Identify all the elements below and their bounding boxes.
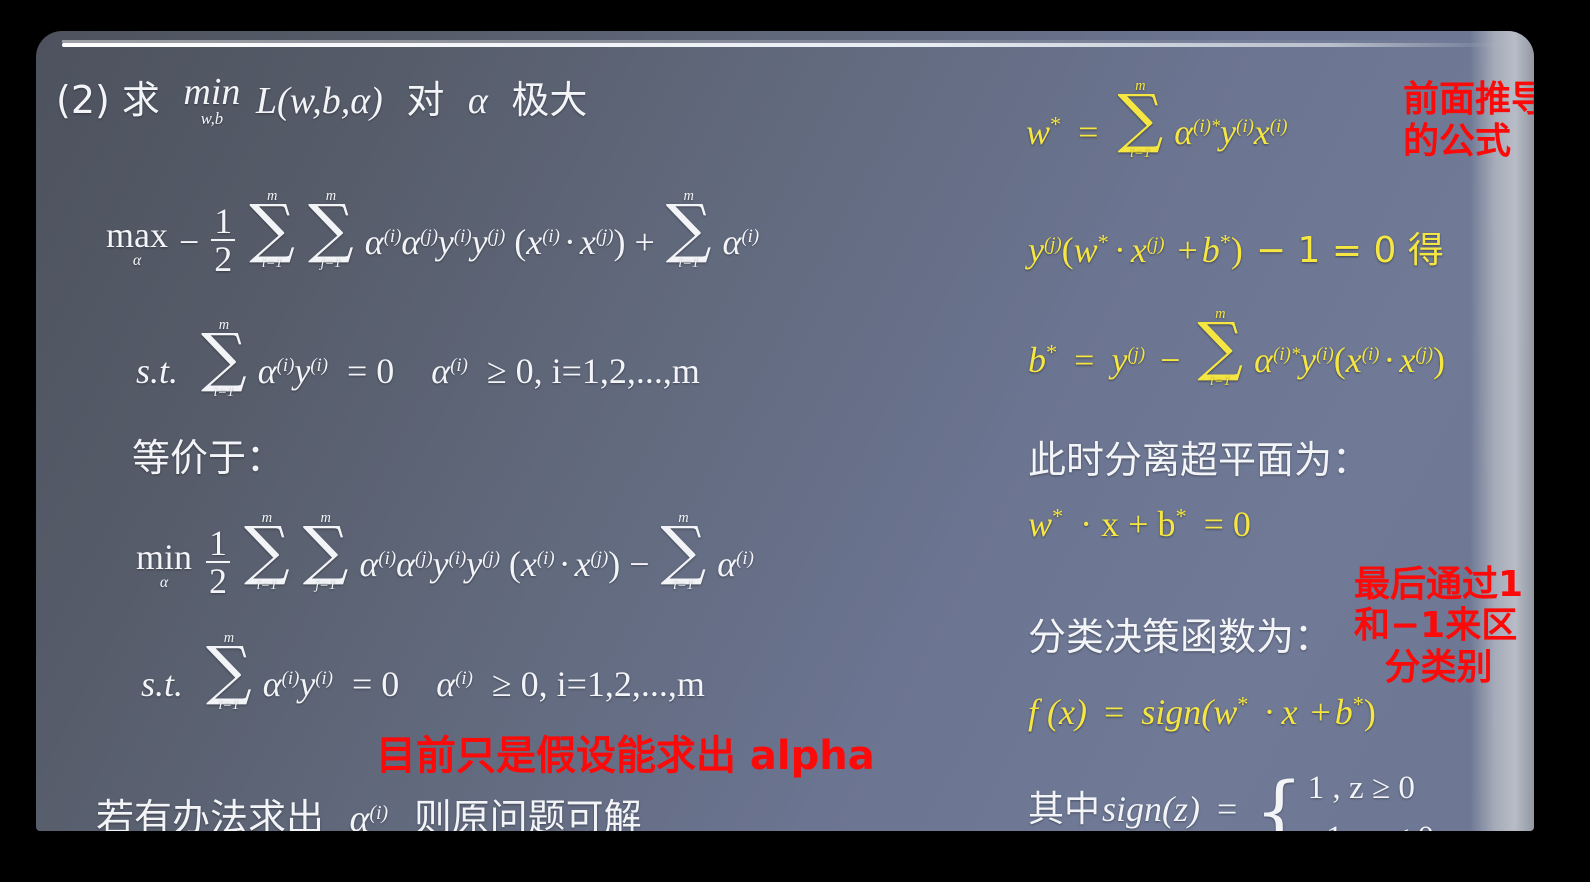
min-operator: min α	[136, 539, 192, 591]
summation-j: m ∑ j=1	[303, 511, 349, 592]
max-operator: max α	[106, 217, 168, 269]
superscript-i: (i)	[455, 668, 473, 690]
y-symbol: y	[1111, 340, 1127, 380]
close-paren: )	[1231, 230, 1243, 270]
step-dui-label: 对	[406, 78, 444, 122]
equals-zero: = 0	[347, 351, 394, 391]
dual-objective-max: max α − 1 2 m ∑ i=1 m ∑ j=1 α(i)α(j)y(i)…	[106, 189, 759, 277]
x-j-term: x	[580, 222, 596, 262]
y-term: y	[294, 351, 310, 391]
superscript-i: (i)	[449, 548, 467, 570]
step-alpha-symbol: α	[468, 80, 488, 122]
dual-constraint-min: s.t. m ∑ i=1 α(i)y(i) = 0 α(i) ≥ 0, i=1,…	[141, 631, 705, 712]
summation-i: m ∑ i=1	[201, 318, 247, 399]
annotation-sign-classes-line3: 分类别	[1354, 647, 1523, 688]
summation-i: m ∑ i=1	[1117, 79, 1163, 160]
sigma-glyph: ∑	[244, 525, 290, 578]
closing-alpha-symbol: α	[350, 798, 370, 831]
one-half-fraction: 1 2	[206, 525, 230, 599]
alpha-j-term: α	[396, 544, 415, 584]
plus-sign: +	[1310, 692, 1330, 732]
hyperplane-label: 此时分离超平面为：	[1028, 429, 1370, 484]
superscript-j: (j)	[596, 226, 614, 248]
max-operator-name: max	[106, 217, 168, 253]
superscript-i: (i)	[310, 355, 328, 377]
superscript-i: (i)	[384, 226, 402, 248]
superscript-i: (i)	[537, 548, 555, 570]
decision-function-label: 分类决策函数为：	[1028, 606, 1332, 661]
close-paren: )	[613, 222, 625, 262]
alpha-symbol: α	[1174, 112, 1193, 152]
min-operator-subscript: w,b	[183, 111, 240, 128]
dual-objective-min: min α 1 2 m ∑ i=1 m ∑ j=1 α(i)α(j)y(i)y(…	[136, 511, 754, 599]
y-j-term: y	[472, 222, 488, 262]
w-symbol: w	[1074, 230, 1098, 270]
alpha-i-term: α	[360, 544, 379, 584]
equals-sign: =	[1217, 789, 1237, 829]
y-term: y	[299, 664, 315, 704]
star-superscript: *	[1353, 692, 1364, 717]
annotation-sign-classes: 最后通过1 和−1来区 分类别	[1354, 564, 1523, 688]
minus-sign: −	[629, 544, 649, 584]
close-paren: )	[1364, 692, 1376, 732]
x-j-term: x	[575, 544, 591, 584]
sign-function-symbol: sign(z)	[1102, 789, 1200, 829]
f-of-x-label: f (x)	[1028, 692, 1087, 732]
superscript-i: (i)	[542, 226, 560, 248]
y-symbol: y	[1220, 112, 1236, 152]
star-superscript: *	[1052, 504, 1063, 529]
star-superscript: *	[1175, 504, 1186, 529]
fraction-numerator: 1	[211, 203, 235, 239]
sign-cases: { 1 , z ≥ 0 −1 , z < 0	[1254, 763, 1434, 831]
x-symbol: x	[1131, 230, 1147, 270]
summation-j: m ∑ j=1	[308, 189, 354, 270]
open-paren: (	[1062, 230, 1074, 270]
sign-case-rows: 1 , z ≥ 0 −1 , z < 0	[1308, 763, 1435, 831]
step-maximize-label: 极大	[511, 78, 587, 122]
sign-function-name: sign(	[1141, 692, 1213, 732]
annotation-alpha-assumption: 目前只是假设能求出 alpha	[376, 723, 875, 781]
nonnegativity-constraint: ≥ 0, i=1,2,...,m	[492, 664, 705, 704]
x-i-term: x	[521, 544, 537, 584]
superscript-i: (i)	[378, 548, 396, 570]
superscript-j: (j)	[1127, 344, 1145, 366]
close-paren: )	[608, 544, 620, 584]
w-symbol: w	[1028, 504, 1052, 544]
superscript-j: (j)	[1147, 234, 1165, 256]
plus-sign: +	[1177, 230, 1197, 270]
superscript-j: (j)	[488, 226, 506, 248]
superscript-i: (i)	[1362, 344, 1380, 366]
equals-sign: =	[1078, 112, 1098, 152]
sign-definition-prefix: 其中	[1028, 789, 1100, 830]
b-symbol: b	[1335, 692, 1353, 732]
inner-product-dot: ·	[564, 222, 576, 262]
star-superscript: *	[1046, 340, 1057, 365]
subject-to-label: s.t.	[141, 664, 183, 704]
b-symbol: b	[1202, 230, 1220, 270]
x-i-term: x	[526, 222, 542, 262]
annotation-previous-formula: 前面推导 的公式	[1403, 79, 1534, 164]
star-superscript: *	[1237, 692, 1248, 717]
annotation-previous-formula-line1: 前面推导	[1403, 79, 1534, 121]
superscript-j: (j)	[591, 548, 609, 570]
annotation-previous-formula-line2: 的公式	[1403, 121, 1534, 163]
open-paren: (	[509, 544, 521, 584]
hyperplane-equals-zero: = 0	[1204, 504, 1251, 544]
alpha-i-term: α	[365, 222, 384, 262]
y-symbol: y	[1028, 230, 1044, 270]
superscript-i: (i)	[1316, 344, 1334, 366]
sign-case-positive: 1 , z ≥ 0	[1308, 763, 1435, 813]
alpha-nonneg-symbol: α	[436, 664, 455, 704]
summation-i: m ∑ i=1	[206, 631, 252, 712]
w-symbol: w	[1026, 112, 1050, 152]
alpha-term: α	[717, 544, 736, 584]
equals-sign: =	[1104, 692, 1124, 732]
w-symbol: w	[1213, 692, 1237, 732]
sigma-glyph: ∑	[201, 332, 247, 385]
annotation-sign-classes-line1: 最后通过1	[1354, 564, 1523, 605]
alpha-symbol: α	[1254, 340, 1273, 380]
summation-i: m ∑ i=1	[244, 511, 290, 592]
equals-zero: = 0	[352, 664, 399, 704]
max-operator-subscript: α	[106, 253, 168, 269]
closing-statement-suffix: 则原问题可解	[414, 796, 642, 831]
closing-statement: 若有办法求出 α(i) 则原问题可解	[96, 787, 642, 831]
superscript-i: (i)	[315, 668, 333, 690]
superscript-i: (i)	[1236, 116, 1254, 138]
kkt-tail-expression: − 1 = 0 得	[1256, 230, 1444, 271]
x-symbol: x	[1281, 692, 1297, 732]
plus-sign: +	[634, 222, 654, 262]
superscript-j: (j)	[482, 548, 500, 570]
sigma-glyph: ∑	[666, 203, 712, 256]
equivalent-label: 等价于：	[132, 427, 284, 482]
x-symbol: x	[1346, 340, 1362, 380]
sigma-glyph: ∑	[1197, 321, 1243, 374]
presentation-slide: (2) 求 min w,b L(w,b,α) 对 α 极大 max α − 1 …	[36, 31, 1534, 831]
sign-case-negative: −1 , z < 0	[1308, 813, 1435, 831]
y-i-term: y	[433, 544, 449, 584]
y-i-term: y	[438, 222, 454, 262]
inner-product-dot: ·	[1114, 230, 1126, 270]
b-star-formula: b* = y(j) − m ∑ i=1 α(i)*y(i)(x(i)·x(j))	[1028, 307, 1445, 388]
sign-definition: 其中sign(z) = { 1 , z ≥ 0 −1 , z < 0	[1028, 763, 1434, 831]
star-superscript: *	[1098, 230, 1109, 255]
summation-i-2: m ∑ i=1	[661, 511, 707, 592]
superscript-j: (j)	[1415, 344, 1433, 366]
superscript-j: (j)	[1044, 234, 1062, 256]
hyperplane-tail: · x + b	[1080, 504, 1175, 544]
sigma-glyph: ∑	[249, 203, 295, 256]
b-symbol: b	[1028, 340, 1046, 380]
sigma-glyph: ∑	[1117, 93, 1163, 146]
superscript-i-star: (i)*	[1273, 344, 1300, 366]
left-brace-glyph: {	[1254, 782, 1303, 831]
superscript-i: (i)	[450, 355, 468, 377]
sigma-glyph: ∑	[303, 525, 349, 578]
superscript-i: (i)	[741, 226, 759, 248]
superscript-i: (i)	[282, 668, 300, 690]
close-paren: )	[1433, 340, 1445, 380]
superscript-i: (i)	[369, 802, 388, 825]
fraction-numerator: 1	[206, 525, 230, 561]
superscript-i: (i)	[1270, 116, 1288, 138]
sigma-glyph: ∑	[308, 203, 354, 256]
summation-i-2: m ∑ i=1	[666, 189, 712, 270]
min-operator-wb: min w,b	[183, 73, 240, 128]
lagrangian-expression: L(w,b,α)	[256, 80, 383, 122]
superscript-i: (i)	[736, 548, 754, 570]
superscript-j: (j)	[415, 548, 433, 570]
superscript-i: (i)	[454, 226, 472, 248]
one-half-fraction: 1 2	[211, 203, 235, 277]
inner-product-dot: ·	[559, 544, 571, 584]
fraction-denominator: 2	[211, 239, 235, 277]
step-label: (2) 求	[56, 78, 160, 122]
w-star-formula: w* = m ∑ i=1 α(i)*y(i)x(i)	[1026, 79, 1287, 160]
nonnegativity-constraint: ≥ 0, i=1,2,...,m	[487, 351, 700, 391]
alpha-j-term: α	[401, 222, 420, 262]
equals-sign: =	[1074, 340, 1094, 380]
x-symbol: x	[1254, 112, 1270, 152]
minus-sign: −	[1160, 340, 1180, 380]
fraction-denominator: 2	[206, 561, 230, 599]
slide-stage: (2) 求 min w,b L(w,b,α) 对 α 极大 max α − 1 …	[0, 0, 1590, 882]
inner-product-dot: ·	[1383, 340, 1395, 380]
min-operator-name: min	[183, 73, 240, 111]
x-symbol: x	[1399, 340, 1415, 380]
inner-product-dot: ·	[1263, 692, 1275, 732]
y-j-term: y	[466, 544, 482, 584]
closing-statement-prefix: 若有办法求出	[96, 796, 324, 831]
alpha-term: α	[263, 664, 282, 704]
min-operator-subscript: α	[136, 575, 192, 591]
summation-i: m ∑ i=1	[249, 189, 295, 270]
dual-constraint-max: s.t. m ∑ i=1 α(i)y(i) = 0 α(i) ≥ 0, i=1,…	[136, 318, 700, 399]
sigma-glyph: ∑	[206, 645, 252, 698]
alpha-nonneg-symbol: α	[431, 351, 450, 391]
subject-to-label: s.t.	[136, 351, 178, 391]
y-symbol: y	[1300, 340, 1316, 380]
open-paren: (	[1334, 340, 1346, 380]
alpha-term: α	[723, 222, 742, 262]
top-divider-rule	[62, 43, 1502, 47]
annotation-sign-classes-line2: 和−1来区	[1354, 605, 1523, 646]
min-operator-name: min	[136, 539, 192, 575]
superscript-i: (i)	[277, 355, 295, 377]
alpha-term: α	[258, 351, 277, 391]
star-superscript: *	[1050, 112, 1061, 137]
minus-sign: −	[179, 222, 199, 262]
sigma-glyph: ∑	[661, 525, 707, 578]
open-paren: (	[514, 222, 526, 262]
decision-function-formula: f (x) = sign(w* ·x +b*)	[1028, 691, 1376, 733]
superscript-i-star: (i)*	[1193, 116, 1220, 138]
star-superscript: *	[1220, 230, 1231, 255]
summation-i: m ∑ i=1	[1197, 307, 1243, 388]
kkt-condition-formula: y(j)(w*·x(j) +b*) − 1 = 0 得	[1028, 221, 1444, 273]
step-2-heading: (2) 求 min w,b L(w,b,α) 对 α 极大	[56, 69, 587, 128]
superscript-j: (j)	[420, 226, 438, 248]
hyperplane-equation: w* · x + b* = 0	[1028, 503, 1251, 545]
